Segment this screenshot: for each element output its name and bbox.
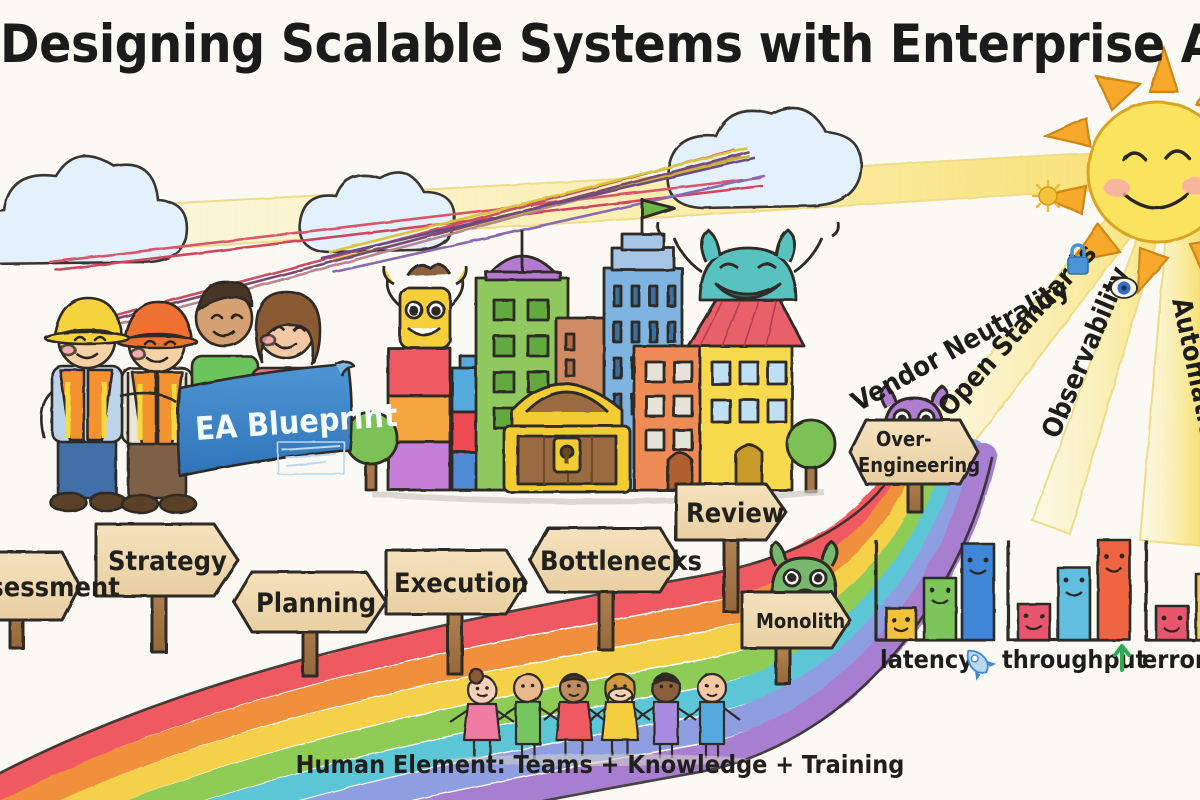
page-title: Designing Scalable Systems with Enterpri…	[0, 14, 1200, 75]
human-element-chain	[0, 0, 1200, 800]
footer-caption: Human Element: Teams + Knowledge + Train…	[0, 750, 1200, 779]
person-figure	[684, 674, 740, 758]
person-figure	[450, 669, 514, 756]
illustration-canvas: EA Blueprint	[0, 0, 1200, 800]
